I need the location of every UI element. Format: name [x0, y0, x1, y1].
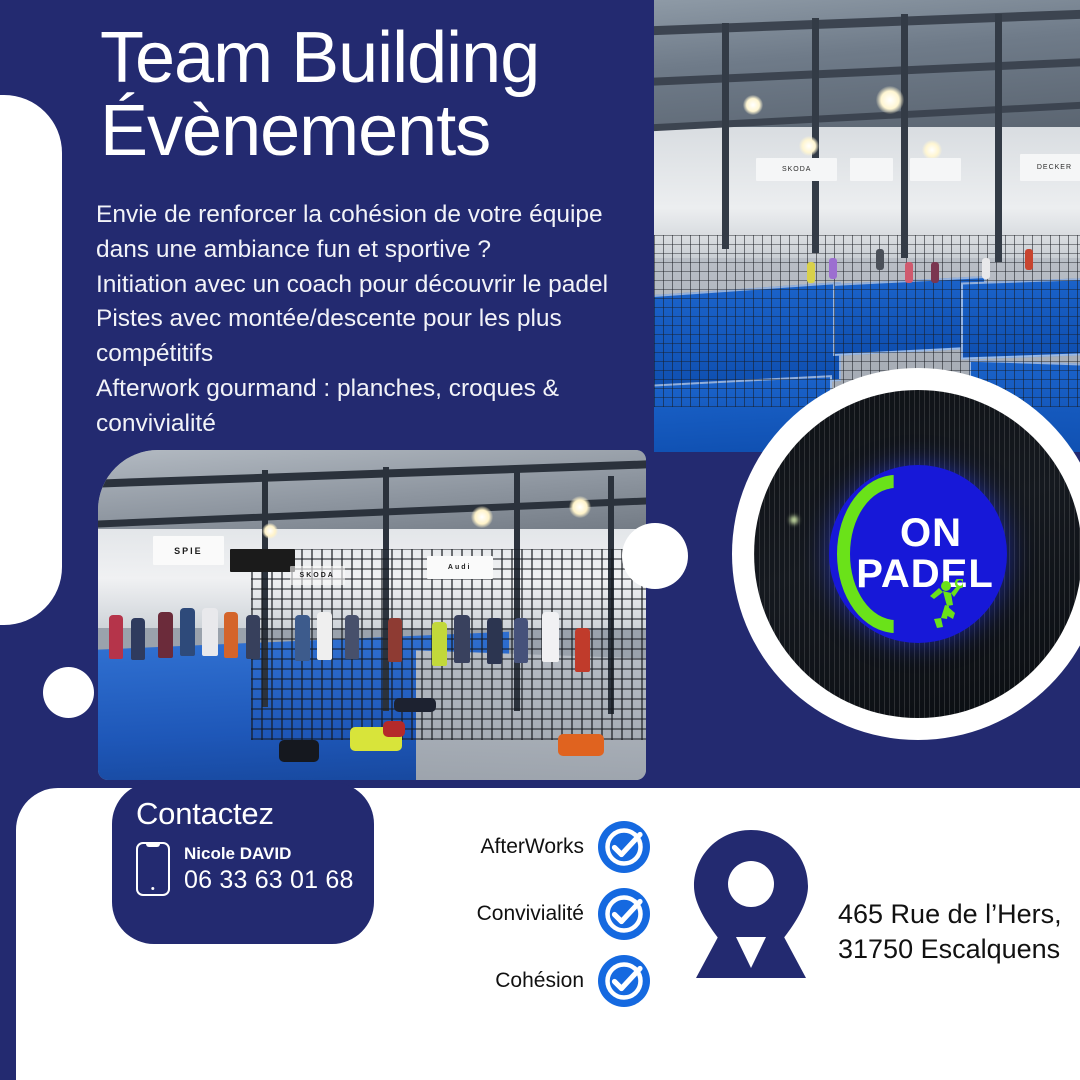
address-line-2: 31750 Escalquens: [838, 932, 1062, 968]
sponsor-banner: [910, 158, 961, 181]
check-circle-icon: [598, 821, 650, 873]
body-line: Afterwork gourmand : planches, croques &: [96, 372, 656, 407]
body-line: dans une ambiance fun et sportive ?: [96, 233, 656, 268]
steel-column: [901, 14, 908, 258]
person: [542, 612, 559, 662]
feature-label: AfterWorks: [481, 835, 584, 859]
equipment-bag: [279, 740, 319, 762]
person: [246, 615, 260, 659]
contact-name: Nicole DAVID: [184, 843, 354, 864]
person: [345, 615, 359, 659]
sponsor-banner: [230, 549, 296, 572]
address-line-1: 465 Rue de l’Hers,: [838, 897, 1062, 933]
person: [487, 618, 502, 664]
map-pin-icon: [678, 826, 824, 982]
feature-item: Convivialité: [470, 887, 650, 940]
logo-backdrop: ON PADEL: [754, 390, 1080, 718]
ceiling-light: [471, 506, 493, 528]
padel-bag: [558, 734, 604, 756]
sponsor-banner: [850, 158, 893, 181]
ceiling-light: [799, 136, 819, 156]
contact-title: Contactez: [136, 796, 374, 832]
address-block: 465 Rue de l’Hers, 31750 Escalquens: [678, 826, 1062, 982]
person: [514, 618, 528, 663]
person: [575, 628, 590, 672]
logo-word-on: ON: [900, 513, 962, 553]
body-line: Pistes avec montée/descente pour les plu…: [96, 302, 656, 337]
contact-card: Contactez Nicole DAVID 06 33 63 01 68: [112, 782, 374, 944]
person: [158, 612, 173, 658]
on-padel-logo-badge: ON PADEL: [732, 368, 1080, 740]
player: [982, 258, 990, 279]
player: [1025, 249, 1033, 270]
bench: [394, 698, 436, 712]
sponsor-banner: SPIE: [153, 536, 224, 566]
padel-player-icon: [925, 579, 963, 629]
feature-checklist: AfterWorks Convivialité Cohésion: [470, 820, 650, 1021]
flyer-poster: SKODA DECKER SPIE SKODA: [0, 0, 1080, 1080]
decorative-left-rounded-rect: [0, 95, 62, 625]
feature-label: Convivialité: [477, 902, 584, 926]
headline-line-2: Évènements: [100, 95, 539, 168]
headline-line-1: Team Building: [100, 22, 539, 95]
check-circle-icon: [598, 888, 650, 940]
person: [317, 612, 332, 660]
padel-bag: [383, 721, 405, 737]
sponsor-banner: Audi: [427, 556, 493, 579]
person: [202, 608, 218, 656]
steel-column: [812, 18, 819, 253]
address-text: 465 Rue de l’Hers, 31750 Escalquens: [838, 897, 1062, 968]
decorative-left-circle: [43, 667, 94, 718]
contact-phone[interactable]: 06 33 63 01 68: [184, 865, 354, 895]
player: [829, 258, 837, 279]
feature-item: AfterWorks: [470, 820, 650, 873]
feature-item: Cohésion: [470, 954, 650, 1007]
steel-column: [722, 23, 729, 249]
player: [876, 249, 884, 270]
person: [180, 608, 195, 656]
person: [295, 615, 310, 661]
player: [931, 262, 939, 283]
sponsor-banner: DECKER: [1020, 154, 1080, 181]
page-title: Team Building Évènements: [100, 22, 539, 169]
smartphone-icon: [136, 842, 170, 896]
contact-text: Nicole DAVID 06 33 63 01 68: [184, 843, 354, 894]
person: [454, 615, 470, 663]
person: [131, 618, 145, 660]
player: [807, 262, 815, 283]
body-copy: Envie de renforcer la cohésion de votre …: [96, 198, 656, 441]
body-line: convivialité: [96, 407, 656, 442]
feature-label: Cohésion: [495, 969, 584, 993]
body-line: compétitifs: [96, 337, 656, 372]
logo-disc: ON PADEL: [829, 465, 1007, 643]
lens-flare: [790, 516, 798, 524]
padel-group-event-photo: SPIE SKODA Audi: [98, 450, 646, 780]
player: [905, 262, 913, 283]
ceiling-light: [262, 523, 278, 539]
body-line: Initiation avec un coach pour découvrir …: [96, 268, 656, 303]
person: [432, 622, 447, 666]
sponsor-banner: SKODA: [756, 158, 837, 181]
ceiling-light: [876, 86, 904, 114]
decorative-mid-circle: [622, 523, 688, 589]
contact-details: Nicole DAVID 06 33 63 01 68: [136, 842, 374, 896]
person: [224, 612, 238, 658]
check-circle-icon: [598, 955, 650, 1007]
sponsor-banner: SKODA: [290, 566, 345, 586]
body-line: Envie de renforcer la cohésion de votre …: [96, 198, 656, 233]
steel-column: [995, 14, 1002, 263]
person: [109, 615, 123, 659]
person: [388, 618, 402, 662]
